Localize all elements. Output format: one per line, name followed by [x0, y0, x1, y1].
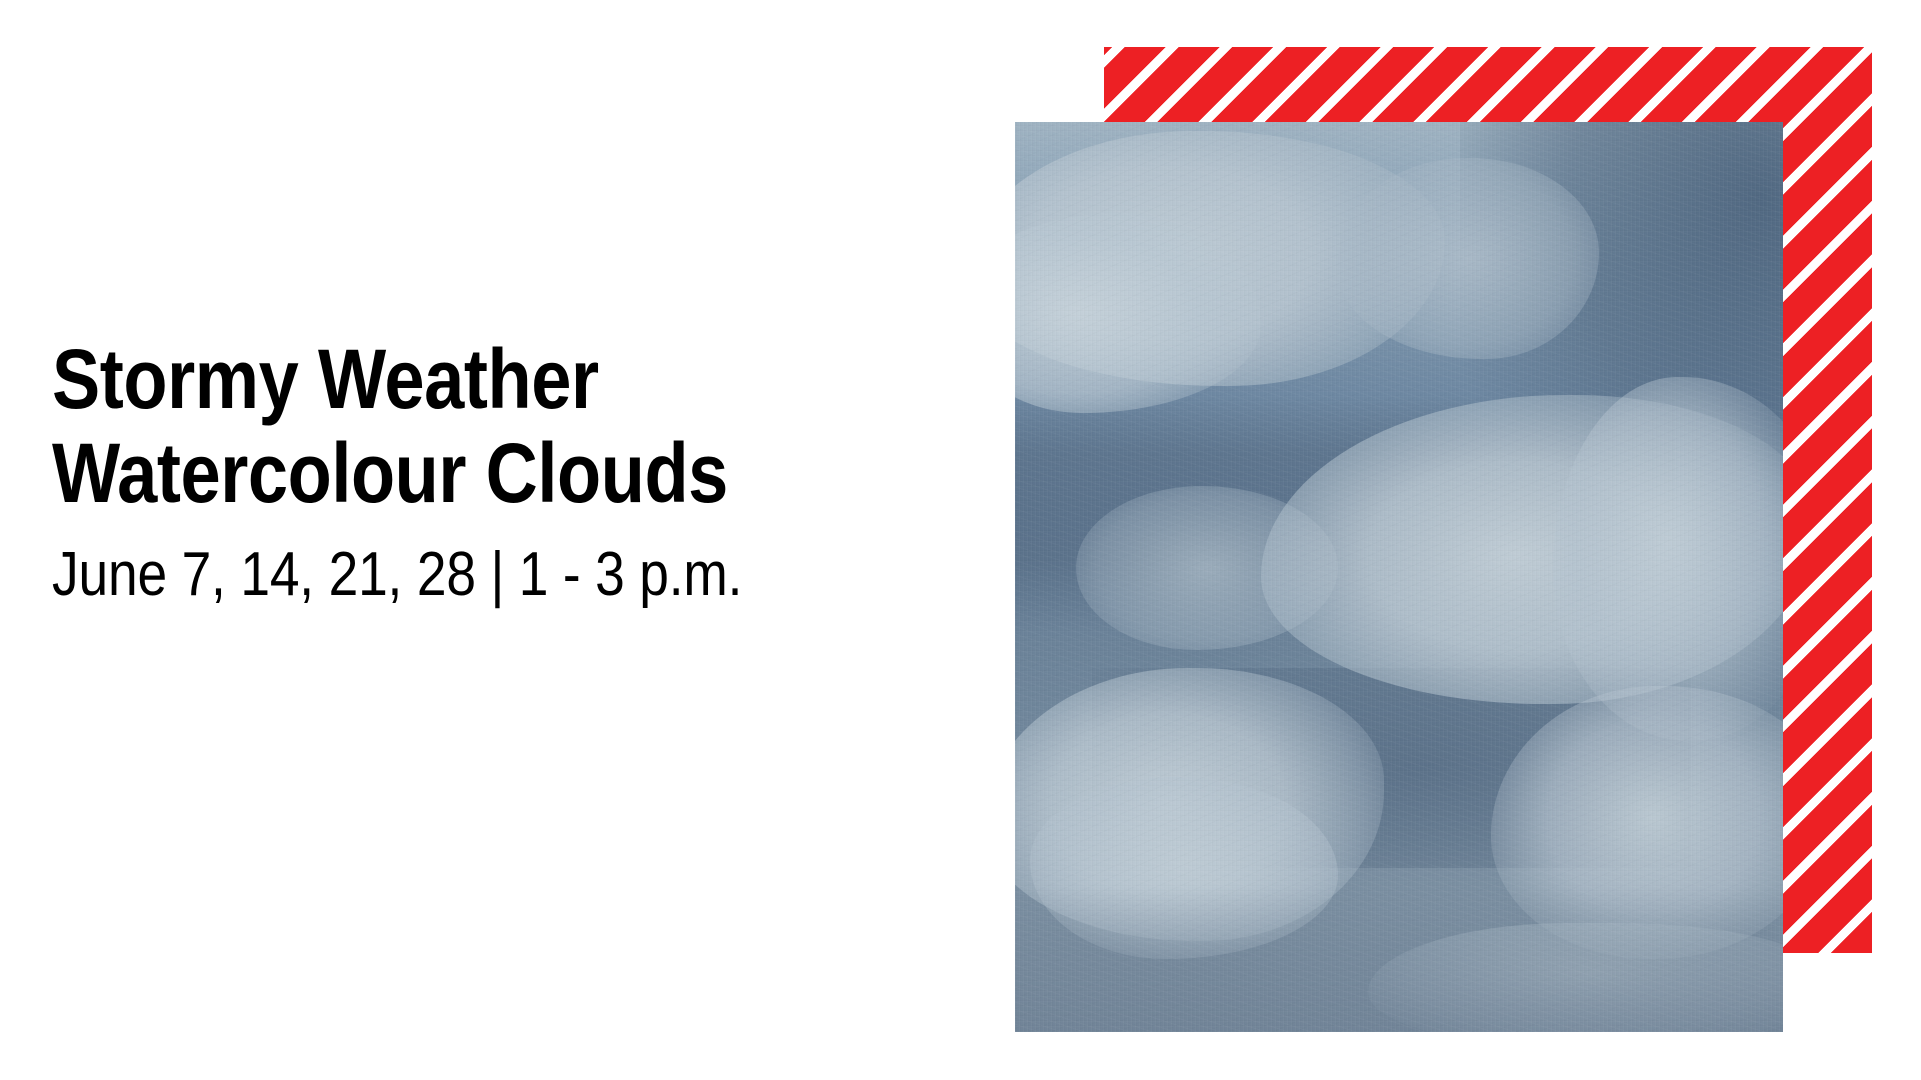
sky-bottom-shadow: [1015, 886, 1783, 1032]
event-title-line-1: Stormy Weather: [52, 332, 809, 426]
promo-banner: Stormy Weather Watercolour Clouds June 7…: [0, 0, 1921, 1080]
event-schedule-text: June 7, 14, 21, 28 | 1 - 3 p.m.: [52, 520, 809, 610]
cloud-shape-top-right: [1338, 158, 1599, 358]
watercolour-clouds-artwork: [1015, 122, 1783, 1032]
event-text-block: Stormy Weather Watercolour Clouds June 7…: [52, 332, 932, 610]
event-title-line-2: Watercolour Clouds: [52, 426, 809, 520]
